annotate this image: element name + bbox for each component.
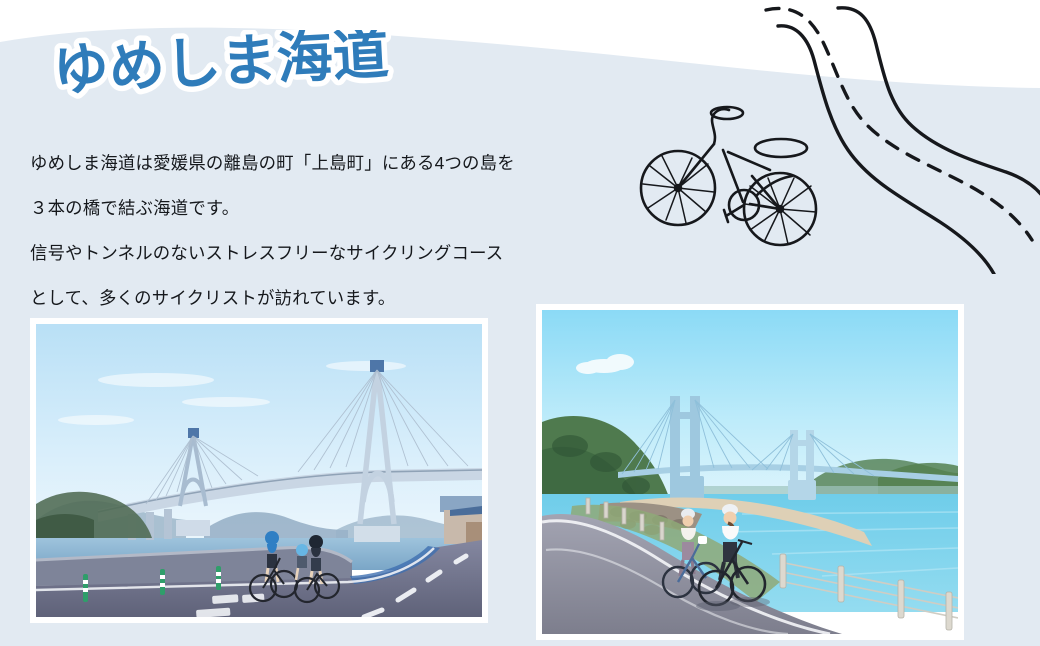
bicycle-icon <box>628 92 848 252</box>
intro-line-1: ゆめしま海道は愛媛県の離島の町「上島町」にある4つの島を <box>30 141 655 186</box>
page-title: ゆめしま海道 <box>48 30 458 110</box>
intro-line-3: 信号やトンネルのないストレスフリーなサイクリングコース <box>30 231 655 276</box>
intro-line-2: ３本の橋で結ぶ海道です。 <box>30 186 655 231</box>
photo-bridge-cyclists-left <box>30 318 488 623</box>
page-title-text: ゆめしま海道 <box>51 30 390 104</box>
photo-bridge-cyclists-right <box>536 304 964 640</box>
intro-paragraph: ゆめしま海道は愛媛県の離島の町「上島町」にある4つの島を ３本の橋で結ぶ海道です… <box>30 141 655 321</box>
page-root: ゆめしま海道 ゆめしま海道は愛媛県の離島の町「上島町」にある4つの島を ３本の橋… <box>0 0 1040 646</box>
